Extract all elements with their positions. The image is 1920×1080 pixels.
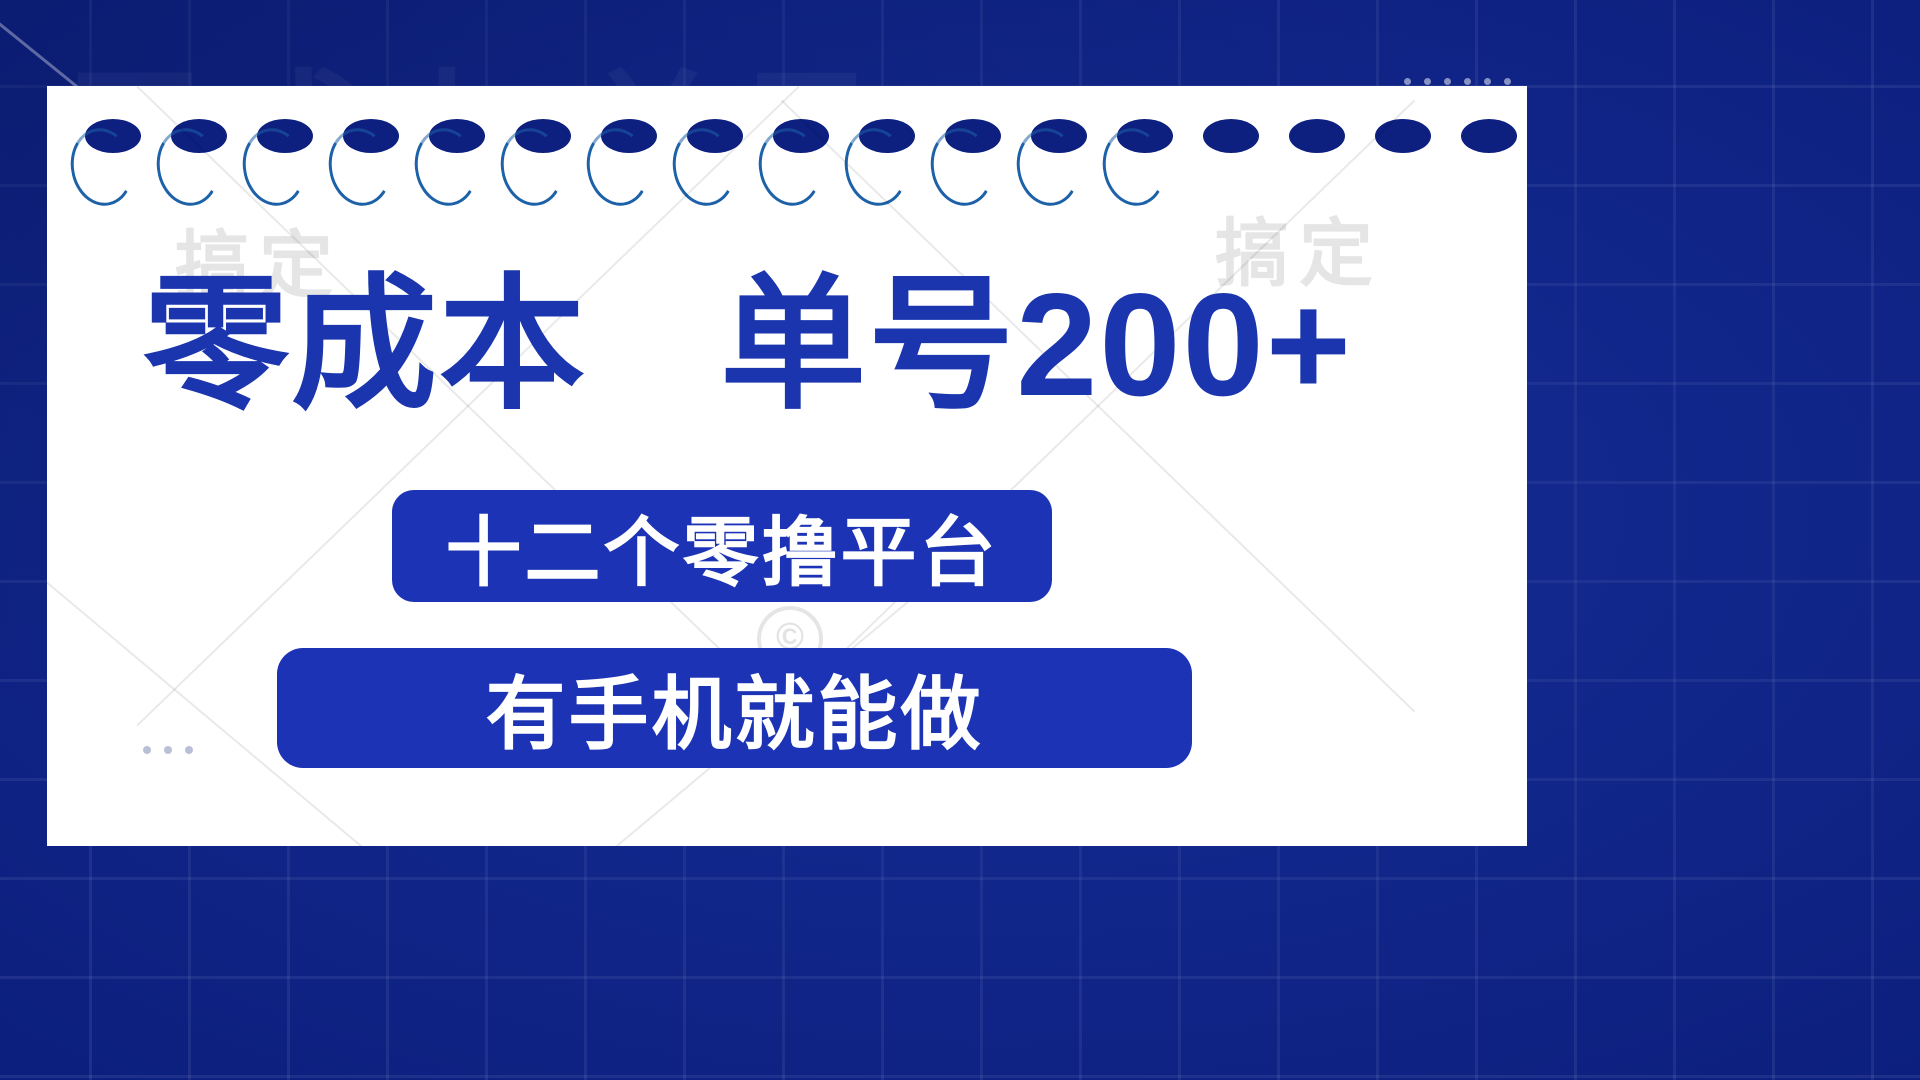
binding-punch-hole [1461, 119, 1517, 153]
decorative-dot [1484, 78, 1491, 85]
decorative-dot [1404, 78, 1411, 85]
decorative-dot [164, 746, 172, 754]
feature-pill-platforms[interactable]: 十二个零撸平台 [392, 490, 1052, 602]
decorative-dot [143, 746, 151, 754]
decorative-dot [1504, 78, 1511, 85]
decorative-dot [1464, 78, 1471, 85]
binding-punch-hole [1289, 119, 1345, 153]
feature-pill-platforms-label: 十二个零撸平台 [446, 491, 999, 601]
decorative-dot [185, 746, 193, 754]
poster-canvas: 零成本 单号 搞定 搞定 © 零成本 单号200+ 十二个零撸平台 有手机就能做 [0, 0, 1920, 1080]
decorative-dot [1424, 78, 1431, 85]
page-title: 零成本 单号200+ [143, 266, 1463, 424]
feature-pill-phone[interactable]: 有手机就能做 [277, 648, 1192, 768]
headline-part-1: 零成本 [143, 263, 587, 426]
decorative-dots-bottom-left [143, 746, 193, 754]
binding-punch-hole [1375, 119, 1431, 153]
headline-part-2: 单号200+ [720, 263, 1353, 426]
decorative-dots-top-right [1404, 78, 1511, 85]
notepad-card: 搞定 搞定 © 零成本 单号200+ 十二个零撸平台 有手机就能做 [47, 86, 1527, 846]
feature-pill-phone-label: 有手机就能做 [486, 650, 984, 766]
binding-punch-hole [1203, 119, 1259, 153]
decorative-dot [1444, 78, 1451, 85]
